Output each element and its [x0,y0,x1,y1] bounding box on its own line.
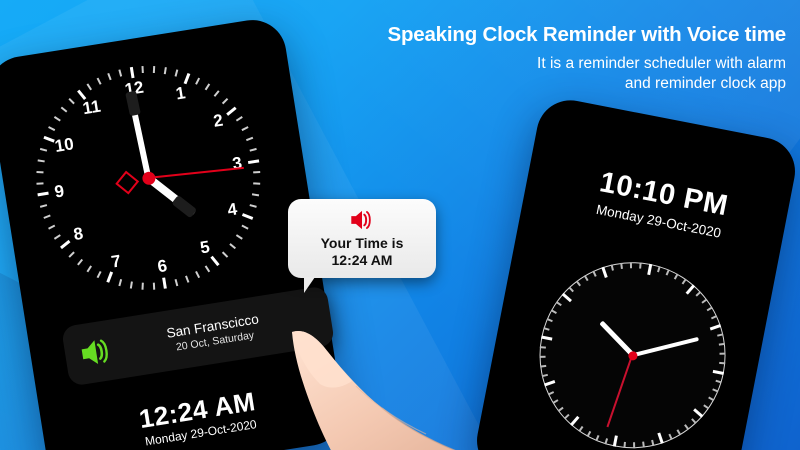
clock-numeral: 7 [104,249,129,274]
speech-bubble[interactable]: Your Time is 12:24 AM [288,199,436,278]
clock-numeral: 1 [168,81,193,106]
right-phone-analog-clock [524,246,742,450]
speaker-volume-icon [72,329,118,375]
page-subtitle-line2: and reminder clock app [316,74,786,94]
clock-numeral: 5 [192,235,217,260]
header-text-block: Speaking Clock Reminder with Voice time … [316,24,786,94]
clock-numeral: 2 [206,109,231,134]
pointing-finger-svg [286,326,536,450]
clock-numeral: 11 [79,95,104,120]
right-phone-digital-clock: 10:10 PM Monday 29-Oct-2020 [546,156,778,252]
clock-numeral: 6 [150,254,175,279]
speech-bubble-line2: 12:24 AM [296,252,428,269]
page-subtitle-line1: It is a reminder scheduler with alarm [316,54,786,74]
left-phone-analog-clock: 123456789101112 [20,50,276,306]
clock-numeral: 3 [225,151,250,176]
clock-numeral: 9 [47,179,72,204]
clock-numeral: 10 [52,133,77,158]
clock-numeral: 8 [66,222,91,247]
page-title: Speaking Clock Reminder with Voice time [316,24,786,47]
pointing-finger [286,326,536,450]
speaker-volume-icon [296,207,428,233]
speech-bubble-line1: Your Time is [296,235,428,252]
clock-numeral: 4 [220,198,245,223]
left-phone-digital-clock: 12:24 AM Monday 29-Oct-2020 [86,378,310,450]
speaker-volume-icon-svg [72,329,118,375]
speech-bubble-tail [304,277,324,293]
promo-banner: Speaking Clock Reminder with Voice time … [0,0,800,450]
speaker-volume-icon-svg [342,207,382,233]
